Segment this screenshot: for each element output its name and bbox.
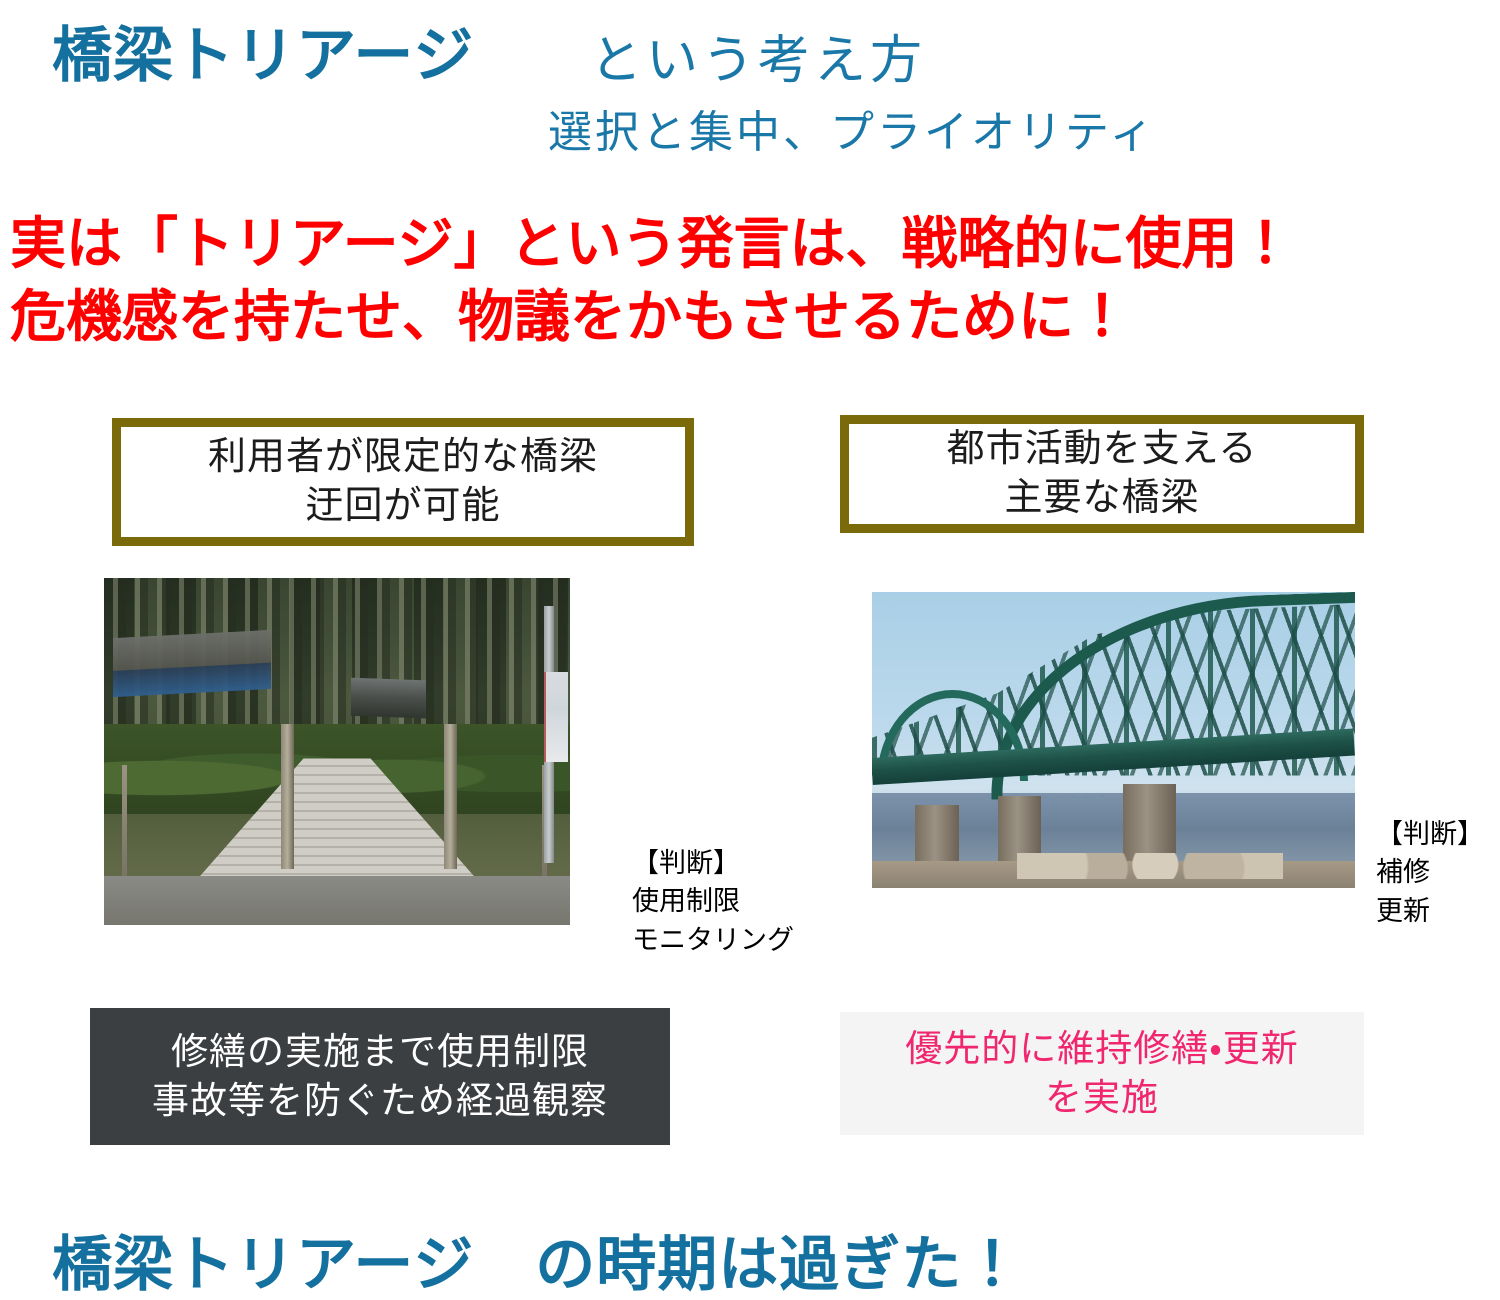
photo-major-urban-bridge bbox=[872, 592, 1355, 888]
forest-shed-left bbox=[113, 629, 271, 696]
category-right-line-1: 都市活動を支える bbox=[947, 425, 1258, 474]
action-text-left: 修繕の実施まで使用制限 事故等を防ぐため経過観察 bbox=[152, 1028, 608, 1126]
judgment-left-line-1: 使用制限 bbox=[632, 882, 794, 920]
page-title-suffix: という考え方 bbox=[590, 34, 926, 89]
action-box-right: 優先的に維持修繕・更新 を実施 bbox=[840, 1012, 1364, 1135]
judgment-right: 【判断】 補修 更新 bbox=[1376, 815, 1484, 930]
judgment-right-line-1: 補修 bbox=[1376, 853, 1484, 891]
bridge-post-left bbox=[281, 724, 294, 870]
judgment-left: 【判断】 使用制限 モニタリング bbox=[632, 844, 794, 959]
approach-road bbox=[104, 876, 570, 925]
slide-canvas: 橋梁トリアージ という考え方 選択と集中、プライオリティ 実は「トリアージ」とい… bbox=[0, 0, 1500, 1300]
action-box-left: 修繕の実施まで使用制限 事故等を防ぐため経過観察 bbox=[90, 1008, 670, 1145]
category-box-left: 利用者が限定的な橋梁 迂回が可能 bbox=[112, 418, 694, 546]
footer-conclusion: 橋梁トリアージ の時期は過ぎた！ bbox=[52, 1216, 1023, 1300]
lead-statement-line-1: 実は「トリアージ」という発言は、戦略的に使用！ bbox=[10, 212, 1294, 275]
lead-statement: 実は「トリアージ」という発言は、戦略的に使用！ 危機感を持たせ、物議をかもさせる… bbox=[10, 208, 1294, 354]
category-text-right: 都市活動を支える 主要な橋梁 bbox=[947, 425, 1258, 524]
judgment-left-line-2: モニタリング bbox=[632, 921, 794, 959]
action-right-line-2: を実施 bbox=[905, 1074, 1299, 1123]
bridge-post-right bbox=[444, 724, 457, 870]
category-text-left: 利用者が限定的な橋梁 迂回が可能 bbox=[208, 433, 598, 532]
category-left-line-2: 迂回が可能 bbox=[208, 482, 598, 531]
category-left-line-1: 利用者が限定的な橋梁 bbox=[208, 433, 598, 482]
judgment-right-line-2: 更新 bbox=[1376, 892, 1484, 930]
action-text-right: 優先的に維持修繕・更新 を実施 bbox=[905, 1025, 1299, 1123]
photo-limited-use-bridge bbox=[104, 578, 570, 925]
judgment-left-label: 【判断】 bbox=[632, 844, 794, 882]
lead-statement-line-2: 危機感を持たせ、物議をかもさせるために！ bbox=[10, 281, 1294, 354]
road-sign bbox=[544, 672, 568, 762]
action-left-line-1: 修繕の実施まで使用制限 bbox=[152, 1028, 608, 1077]
riprap-rocks bbox=[1017, 853, 1283, 880]
action-left-line-2: 事故等を防ぐため経過観察 bbox=[152, 1077, 608, 1126]
category-right-line-2: 主要な橋梁 bbox=[947, 474, 1258, 523]
judgment-right-label: 【判断】 bbox=[1376, 815, 1484, 853]
category-box-right: 都市活動を支える 主要な橋梁 bbox=[840, 415, 1364, 533]
action-right-line-1: 優先的に維持修繕・更新 bbox=[905, 1025, 1299, 1074]
page-subtitle: 選択と集中、プライオリティ bbox=[548, 110, 1156, 156]
forest-shed-right bbox=[351, 677, 426, 718]
page-title: 橋梁トリアージ bbox=[52, 24, 474, 87]
